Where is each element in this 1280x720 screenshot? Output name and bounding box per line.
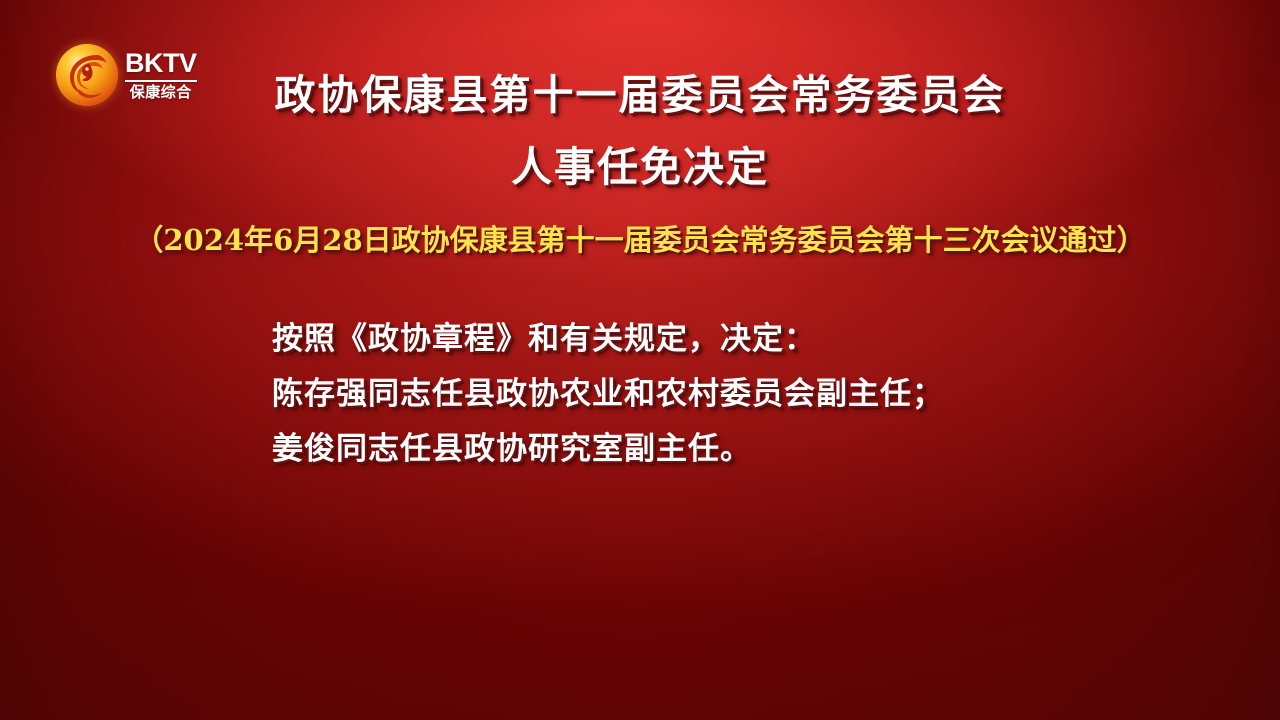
body-block: 按照《政协章程》和有关规定，决定： 陈存强同志任县政协农业和农村委员会副主任； …	[272, 312, 944, 477]
title-block: 政协保康县第十一届委员会常务委员会 人事任免决定	[0, 64, 1280, 198]
title-line-1: 政协保康县第十一届委员会常务委员会	[0, 64, 1280, 126]
body-line-3: 姜俊同志任县政协研究室副主任。	[272, 422, 944, 477]
title-line-2: 人事任免决定	[0, 136, 1280, 198]
body-line-1: 按照《政协章程》和有关规定，决定：	[272, 312, 944, 367]
broadcast-caption-screen: BKTV 保康综合 政协保康县第十一届委员会常务委员会 人事任免决定 （2024…	[0, 0, 1280, 720]
subtitle-adoption-note: （2024年6月28日政协保康县第十一届委员会常务委员会第十三次会议通过）	[0, 218, 1280, 262]
body-line-2: 陈存强同志任县政协农业和农村委员会副主任；	[272, 367, 944, 422]
